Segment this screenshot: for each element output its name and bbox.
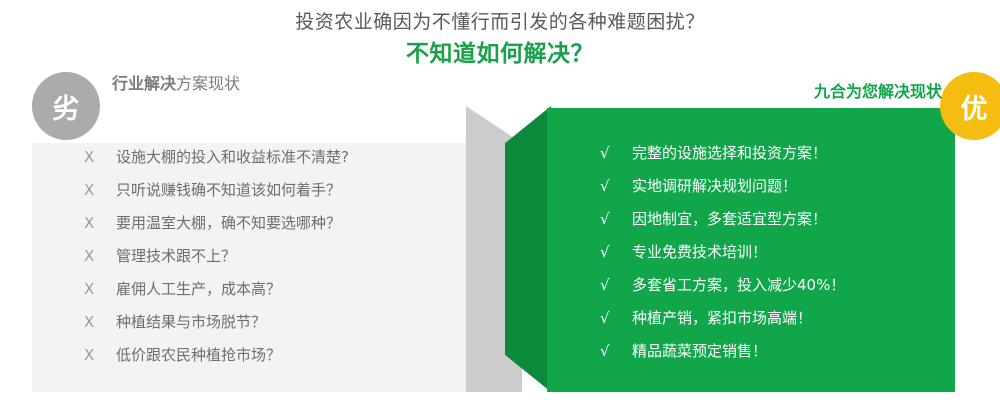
list-item-label: 精品蔬菜预定销售！ (632, 340, 767, 361)
cross-icon: X (84, 148, 116, 166)
headline-question: 投资农业确因为不懂行而引发的各种难题困扰？ (0, 8, 1000, 36)
list-item-label: 雇佣人工生产，成本高？ (116, 278, 281, 299)
right-column-title: 九合为您解决现状 (814, 78, 942, 102)
check-icon: √ (600, 342, 632, 360)
check-icon: √ (600, 210, 632, 228)
list-item-label: 因地制宜，多套适宜型方案！ (632, 208, 827, 229)
badge-inferior: 劣 (32, 72, 100, 140)
list-item: √多套省工方案，投入减少40%！ (600, 274, 950, 307)
list-item: √精品蔬菜预定销售！ (600, 340, 950, 373)
list-item: X只听说赚钱确不知道该如何着手？ (84, 179, 464, 212)
check-icon: √ (600, 177, 632, 195)
list-item: X雇佣人工生产，成本高？ (84, 278, 464, 311)
check-icon: √ (600, 276, 632, 294)
headline-block: 投资农业确因为不懂行而引发的各种难题困扰？ 不知道如何解决？ (0, 8, 1000, 70)
left-column-title-rest: 方案现状 (176, 74, 240, 93)
list-item-label: 要用温室大棚，确不知要选哪种？ (116, 212, 341, 233)
list-item: X管理技术跟不上？ (84, 245, 464, 278)
badge-superior: 优 (940, 72, 1000, 140)
list-item: √实地调研解决规划问题！ (600, 175, 950, 208)
list-item-label: 专业免费技术培训！ (632, 241, 767, 262)
list-item: X种植结果与市场脱节？ (84, 311, 464, 344)
headline-emphasis: 不知道如何解决？ (0, 38, 1000, 70)
left-column-title: 行业解决方案现状 (112, 70, 240, 94)
cross-icon: X (84, 214, 116, 232)
comparison-infographic: 投资农业确因为不懂行而引发的各种难题困扰？ 不知道如何解决？ 劣 优 行业解决方… (0, 0, 1000, 416)
left-problem-list: X设施大棚的投入和收益标准不清楚? X只听说赚钱确不知道该如何着手？ X要用温室… (84, 146, 464, 377)
list-item-label: 实地调研解决规划问题！ (632, 175, 797, 196)
right-column-title-strong: 九合为您解决现状 (814, 82, 942, 101)
left-column-title-strong: 行业解决 (112, 74, 176, 93)
list-item: X低价跟农民种植抢市场？ (84, 344, 464, 377)
list-item-label: 管理技术跟不上？ (116, 245, 236, 266)
list-item-label: 只听说赚钱确不知道该如何着手？ (116, 179, 341, 200)
list-item: X设施大棚的投入和收益标准不清楚? (84, 146, 464, 179)
list-item: √因地制宜，多套适宜型方案！ (600, 208, 950, 241)
cross-icon: X (84, 346, 116, 364)
list-item-label: 种植产销，紧扣市场高端！ (632, 307, 812, 328)
list-item: X要用温室大棚，确不知要选哪种？ (84, 212, 464, 245)
list-item: √专业免费技术培训！ (600, 241, 950, 274)
list-item: √完整的设施选择和投资方案！ (600, 142, 950, 175)
list-item-label: 多套省工方案，投入减少40%！ (632, 274, 845, 295)
fold-green-wedge (505, 106, 551, 392)
right-solution-list: √完整的设施选择和投资方案！ √实地调研解决规划问题！ √因地制宜，多套适宜型方… (600, 142, 950, 373)
cross-icon: X (84, 280, 116, 298)
cross-icon: X (84, 313, 116, 331)
cross-icon: X (84, 247, 116, 265)
check-icon: √ (600, 243, 632, 261)
list-item-label: 完整的设施选择和投资方案！ (632, 142, 827, 163)
badge-inferior-label: 劣 (53, 87, 80, 126)
list-item-label: 设施大棚的投入和收益标准不清楚? (116, 146, 349, 167)
check-icon: √ (600, 144, 632, 162)
list-item-label: 低价跟农民种植抢市场？ (116, 344, 281, 365)
check-icon: √ (600, 309, 632, 327)
badge-superior-label: 优 (961, 87, 988, 126)
list-item-label: 种植结果与市场脱节？ (116, 311, 266, 332)
list-item: √种植产销，紧扣市场高端！ (600, 307, 950, 340)
cross-icon: X (84, 181, 116, 199)
